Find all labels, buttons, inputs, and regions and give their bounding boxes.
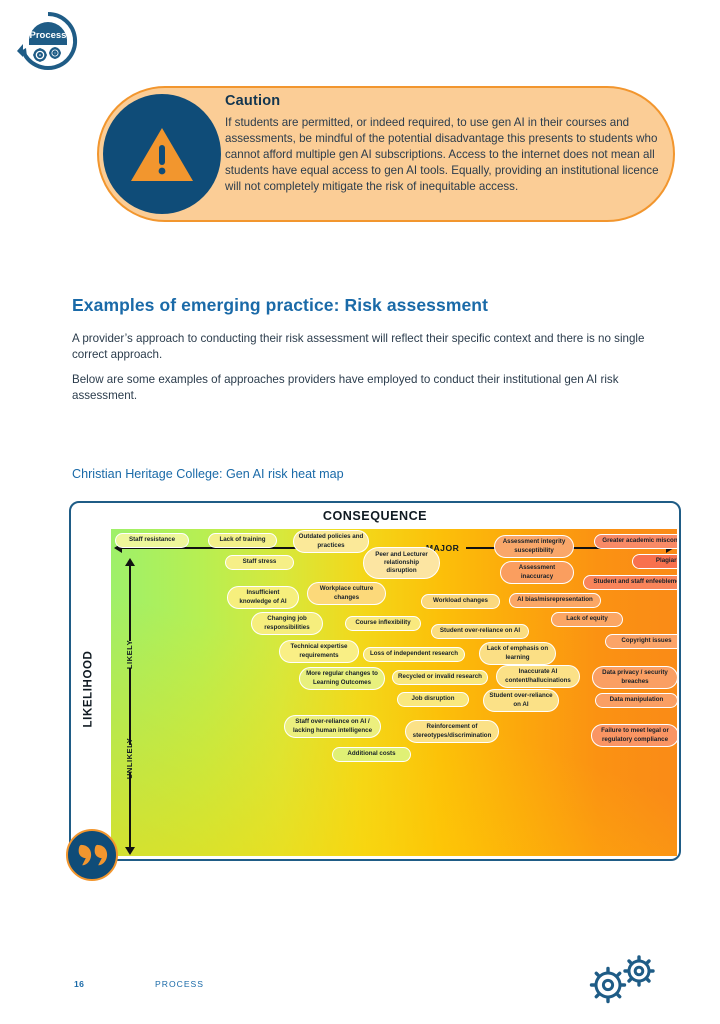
risk-item: Technical expertise requirements — [279, 640, 359, 663]
intro-paragraph-1: A provider’s approach to conducting thei… — [72, 331, 650, 363]
risk-item: Data privacy / security breaches — [592, 666, 677, 689]
risk-item: Lack of emphasis on learning — [479, 642, 556, 665]
heatmap-likelihood-axis: LIKELY UNLIKELY — [119, 565, 141, 848]
risk-item: Additional costs — [332, 747, 411, 762]
caution-text-block: Caution If students are permitted, or in… — [225, 93, 669, 195]
process-circular-arrow-icon: Process — [10, 8, 86, 78]
intro-paragraph-2: Below are some examples of approaches pr… — [72, 372, 650, 404]
risk-item: Data manipulation — [595, 693, 677, 708]
risk-item: Assessment inaccuracy — [500, 561, 574, 584]
risk-item: Plagiarism — [632, 554, 677, 569]
risk-item: Course inflexibility — [345, 616, 421, 631]
unlikely-arrow-icon — [129, 772, 131, 848]
heatmap-plot-area: MINOR MAJOR LIKELY UNLIKELY Staff resist… — [111, 529, 677, 856]
heatmap-y-axis-title: LIKELIHOOD — [79, 599, 97, 779]
risk-item: Changing job responsibilities — [251, 612, 323, 635]
page-title: Examples of emerging practice: Risk asse… — [72, 295, 672, 316]
document-page: Process Caution If students are permitte… — [0, 0, 720, 1024]
risk-item: Inaccurate AI content/hallucinations — [496, 665, 580, 688]
risk-item: Job disruption — [397, 692, 469, 707]
risk-item: Lack of training — [208, 533, 277, 548]
quotation-marks-icon — [76, 843, 108, 868]
heatmap-y-axis-title-text: LIKELIHOOD — [82, 651, 94, 728]
risk-item: AI bias/misrepresentation — [509, 593, 601, 608]
likely-arrow-icon — [129, 565, 131, 641]
risk-item: Outdated policies and practices — [293, 530, 369, 553]
y-tick-likely: LIKELY — [117, 640, 144, 669]
risk-item: More regular changes to Learning Outcome… — [299, 667, 385, 690]
axis-segment-mid — [129, 668, 131, 744]
quote-badge — [66, 829, 118, 881]
risk-item: Loss of independent research — [363, 647, 465, 662]
risk-item: Recycled or invalid research — [392, 670, 488, 685]
risk-item: Insufficient knowledge of AI — [227, 586, 299, 609]
heatmap-x-axis-title: CONSEQUENCE — [71, 509, 679, 523]
risk-item: Staff stress — [225, 555, 294, 570]
risk-heat-map: CONSEQUENCE LIKELIHOOD MINOR MAJOR LIKEL… — [69, 501, 681, 861]
caution-body: If students are permitted, or indeed req… — [225, 115, 669, 195]
process-badge-logo: Process — [10, 8, 86, 78]
risk-item: Peer and Lecturer relationship disruptio… — [363, 547, 440, 579]
risk-item: Student over-reliance on AI — [431, 624, 529, 639]
risk-item: Staff resistance — [115, 533, 189, 548]
risk-item: Greater academic misconduct — [594, 534, 677, 549]
risk-item: Reinforcement of stereotypes/discriminat… — [405, 720, 499, 743]
process-badge-text: Process — [30, 30, 67, 41]
risk-item: Workload changes — [421, 594, 500, 609]
figure-caption: Christian Heritage College: Gen AI risk … — [72, 467, 672, 481]
warning-triangle-icon — [103, 94, 221, 214]
risk-item: Student over-reliance on AI — [483, 689, 559, 712]
risk-item: Failure to meet legal or regulatory comp… — [591, 724, 677, 747]
page-number: 16 — [74, 979, 84, 989]
caution-title: Caution — [225, 93, 669, 109]
risk-item: Student and staff enfeeblement — [583, 575, 677, 590]
risk-item: Lack of equity — [551, 612, 623, 627]
risk-item: Copyright issues — [605, 634, 677, 649]
gears-icon — [580, 952, 664, 1004]
footer-section-label: PROCESS — [155, 979, 204, 989]
risk-item: Workplace culture changes — [307, 582, 386, 605]
risk-item: Staff over-reliance on AI / lacking huma… — [284, 715, 381, 738]
risk-item: Assessment integrity susceptibility — [494, 535, 574, 558]
